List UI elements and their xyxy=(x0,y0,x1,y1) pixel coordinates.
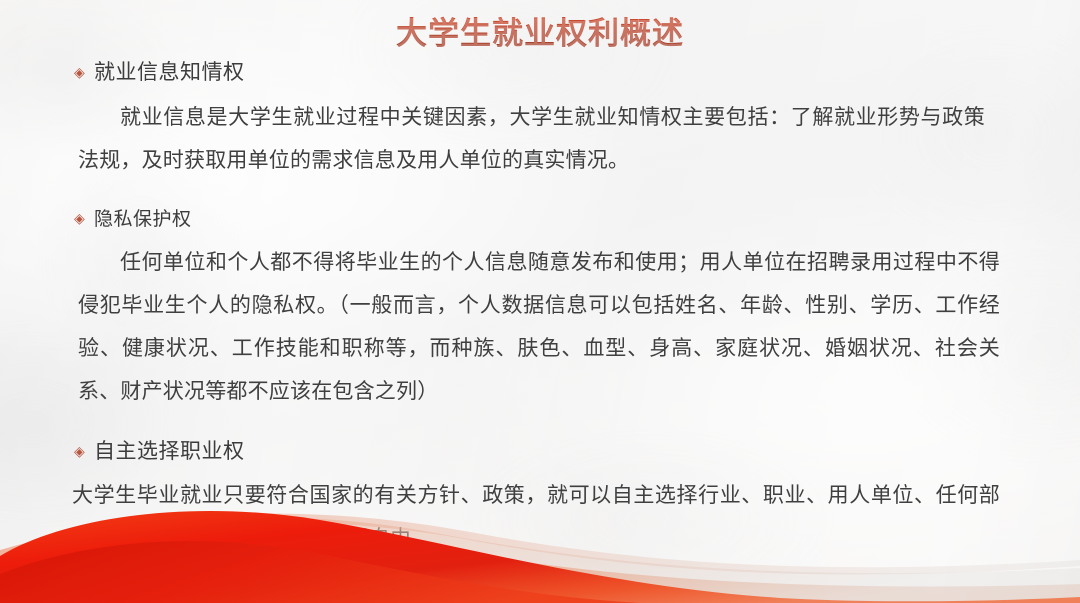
diamond-bullet-icon: ◈ xyxy=(74,444,94,458)
section-heading-1-label: 就业信息知情权 xyxy=(94,62,245,83)
section-body-2: 任何单位和个人都不得将毕业生的个人信息随意发布和使用；用人单位在招聘录用过程中不… xyxy=(0,241,1080,413)
slide-canvas: 大学生就业权利概述 ◈ 就业信息知情权 就业信息是大学生就业过程中关键因素，大学… xyxy=(0,0,1080,603)
diamond-bullet-icon: ◈ xyxy=(74,211,94,225)
section-heading-3-label: 自主选择职业权 xyxy=(94,441,245,462)
section-heading-1: ◈ 就业信息知情权 xyxy=(0,62,1080,83)
slide-content: ◈ 就业信息知情权 就业信息是大学生就业过程中关键因素，大学生就业知情权主要包括… xyxy=(0,52,1080,560)
diamond-bullet-icon: ◈ xyxy=(74,65,94,79)
section-heading-3: ◈ 自主选择职业权 xyxy=(0,441,1080,462)
section-heading-2: ◈ 隐私保护权 xyxy=(0,210,1080,229)
section-body-3: 大学生毕业就业只要符合国家的有关方针、政策，就可以自主选择行业、职业、用人单位、… xyxy=(0,474,1080,560)
section-heading-2-label: 隐私保护权 xyxy=(94,210,192,229)
page-title: 大学生就业权利概述 xyxy=(0,8,1080,53)
section-body-1: 就业信息是大学生就业过程中关键因素，大学生就业知情权主要包括：了解就业形势与政策… xyxy=(0,96,1080,182)
